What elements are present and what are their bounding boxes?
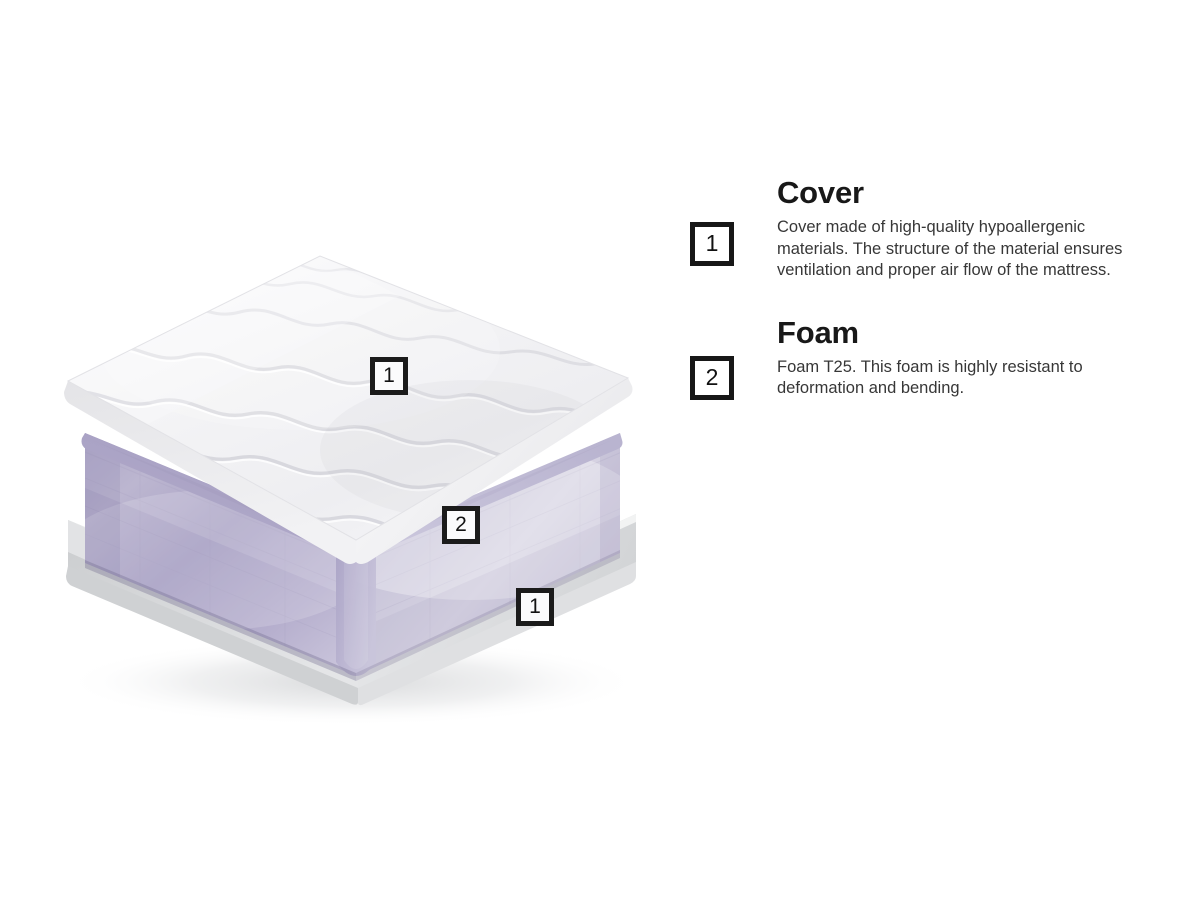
legend-text-cover: Cover Cover made of high-quality hypoall…: [777, 176, 1160, 282]
legend-desc-foam: Foam T25. This foam is highly resistant …: [777, 357, 1147, 400]
legend: 1 Cover Cover made of high-quality hypoa…: [690, 176, 1160, 428]
legend-badge-1-number: 1: [706, 230, 719, 256]
legend-title-cover: Cover: [777, 176, 1160, 210]
legend-desc-cover: Cover made of high-quality hypoallergeni…: [777, 217, 1147, 282]
legend-item-cover: 1 Cover Cover made of high-quality hypoa…: [690, 176, 1160, 282]
legend-item-foam: 2 Foam Foam T25. This foam is highly res…: [690, 316, 1160, 400]
diagram-marker-cover[interactable]: 1: [370, 357, 408, 395]
legend-title-foam: Foam: [777, 316, 1160, 350]
mattress-cutaway-infographic: 1 2 1 1 Cover Cover made of high-quality…: [0, 0, 1200, 899]
diagram-marker-cover-number: 1: [375, 362, 403, 390]
legend-badge-2: 2: [690, 356, 734, 400]
diagram-marker-cover-base-number: 1: [521, 593, 549, 621]
diagram-marker-foam-number: 2: [447, 511, 475, 539]
legend-badge-1: 1: [690, 222, 734, 266]
legend-badge-2-number: 2: [706, 364, 719, 390]
mattress-illustration: 1 2 1: [0, 0, 680, 899]
legend-text-foam: Foam Foam T25. This foam is highly resis…: [777, 316, 1160, 400]
mattress-svg: [0, 0, 680, 899]
diagram-marker-foam[interactable]: 2: [442, 506, 480, 544]
diagram-marker-cover-base[interactable]: 1: [516, 588, 554, 626]
